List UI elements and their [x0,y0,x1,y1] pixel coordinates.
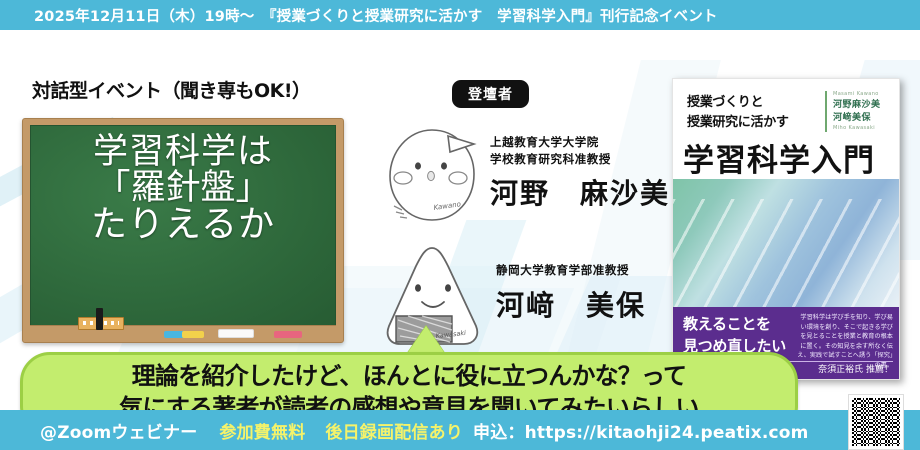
header-date-title: 2025年12月11日（木）19時～ 『授業づくりと授業研究に活かす 学習科学入… [0,0,920,30]
book-subtitle-line-2: 授業研究に活かす [687,113,789,133]
book-author-roman-1: Masami Kawano [833,91,887,99]
event-format-label: 対話型イベント（聞き専もOK!） [32,76,311,103]
speaker-2-info: 静岡大学教育学部准教授 河﨑 美保 [496,262,646,324]
chalk-red-icon [274,331,302,338]
footer-archive-label: 後日録画配信あり [325,418,463,443]
speech-bubble: 理論を紹介したけど、ほんとに役に立つんかな？って 気にする著者が読者の感想や意見… [20,352,798,410]
speaker-1-affiliation-2: 学校教育研究科准教授 [490,151,670,168]
book-authors: Masami Kawano 河野麻沙美 河﨑美保 Miho Kawasaki [825,91,887,132]
speaker-1-affiliation-1: 上越教育大学大学院 [490,134,670,151]
speaker-1-name: 河野 麻沙美 [490,172,670,212]
speech-bubble-line-1: 理論を紹介したけど、ほんとに役に立つんかな？って [23,361,795,393]
speaker-2-name: 河﨑 美保 [496,284,646,324]
speaker-2-affiliation-1: 静岡大学教育学部准教授 [496,262,646,279]
speaker-1-info: 上越教育大学大学院 学校教育研究科准教授 河野 麻沙美 [490,134,670,212]
blackboard-line-1: 学習科学は [31,134,335,170]
blackboard: 学習科学は 「羅針盤」 たりえるか [22,118,344,343]
blackboard-surface: 学習科学は 「羅針盤」 たりえるか [30,125,336,327]
footer-info-bar: @Zoomウェビナー 参加費無料 後日録画配信あり 申込：https://kit… [0,410,920,450]
book-author-jp-1: 河野麻沙美 [833,99,887,112]
blackboard-text: 学習科学は 「羅針盤」 たりえるか [31,134,335,243]
book-author-jp-2: 河﨑美保 [833,112,887,125]
blackboard-line-2: 「羅針盤」 [31,170,335,206]
speech-bubble-text: 理論を紹介したけど、ほんとに役に立つんかな？って 気にする著者が読者の感想や意見… [23,361,795,410]
eraser-handle-icon [96,308,103,330]
footer-free-label: 参加費無料 [219,418,305,443]
book-cover: 授業づくりと 授業研究に活かす Masami Kawano 河野麻沙美 河﨑美保… [672,78,900,380]
book-subtitle: 授業づくりと 授業研究に活かす [687,93,789,132]
book-obi-line-1: 教えることを [683,314,786,336]
book-subtitle-line-1: 授業づくりと [687,93,789,113]
speech-bubble-line-2: 気にする著者が読者の感想や意見を聞いてみたいらしい [23,393,795,410]
blackboard-line-3: たりえるか [31,206,335,243]
chalk-white-icon [218,329,254,338]
book-author-roman-2: Miho Kawasaki [833,125,887,133]
poster-body: 対話型イベント（聞き専もOK!） 学習科学は 「羅針盤」 たりえるか 登壇者 [0,30,920,410]
qr-code-icon[interactable] [848,394,904,450]
speaker-1-avatar-icon: Kawano [378,122,486,230]
speakers-badge: 登壇者 [452,80,529,108]
event-poster: 2025年12月11日（木）19時～ 『授業づくりと授業研究に活かす 学習科学入… [0,0,920,450]
chalk-yellow-icon [182,331,204,338]
book-cover-artwork: Introduction to the Learning Sciences [673,179,899,307]
footer-platform: @Zoomウェビナー [40,418,197,443]
footer-apply-url[interactable]: 申込：https://kitaohji24.peatix.com [473,418,809,443]
book-obi-recommendation: 奈須正裕氏 推薦！ [818,362,893,375]
book-title: 学習科学入門 [683,135,875,180]
